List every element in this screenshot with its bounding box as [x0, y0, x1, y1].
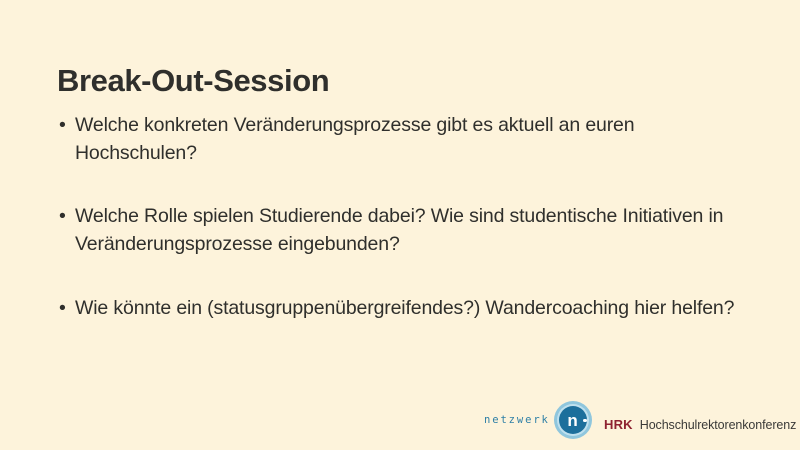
- netzwerk-logo: netzwerk n: [484, 400, 592, 440]
- footer-logo-bar: netzwerk n HRK Hochschulrektorenkonferen…: [0, 396, 800, 444]
- list-item: • Welche konkreten Veränderungsprozesse …: [57, 112, 747, 167]
- bullet-list: • Welche konkreten Veränderungsprozesse …: [57, 112, 747, 322]
- netzwerk-dot-icon: [583, 419, 587, 423]
- netzwerk-wordmark: netzwerk: [484, 414, 550, 427]
- list-item: • Wie könnte ein (statusgruppenübergreif…: [57, 295, 747, 323]
- list-item-text: Welche konkreten Veränderungsprozesse gi…: [75, 112, 747, 167]
- netzwerk-circle-icon: n: [554, 401, 592, 439]
- bullet-marker-icon: •: [59, 295, 66, 323]
- presentation-slide: Break-Out-Session • Welche konkreten Ver…: [0, 0, 800, 450]
- bullet-marker-icon: •: [59, 203, 66, 231]
- bullet-marker-icon: •: [59, 112, 66, 140]
- list-item-text: Welche Rolle spielen Studierende dabei? …: [75, 203, 747, 258]
- list-item: • Welche Rolle spielen Studierende dabei…: [57, 203, 747, 258]
- hrk-full-name: Hochschulrektorenkonferenz: [640, 418, 797, 432]
- page-title: Break-Out-Session: [57, 63, 329, 99]
- list-item-text: Wie könnte ein (statusgruppenübergreifen…: [75, 295, 747, 323]
- hrk-logo: HRK Hochschulrektorenkonferenz: [604, 417, 796, 432]
- hrk-abbreviation: HRK: [604, 417, 633, 432]
